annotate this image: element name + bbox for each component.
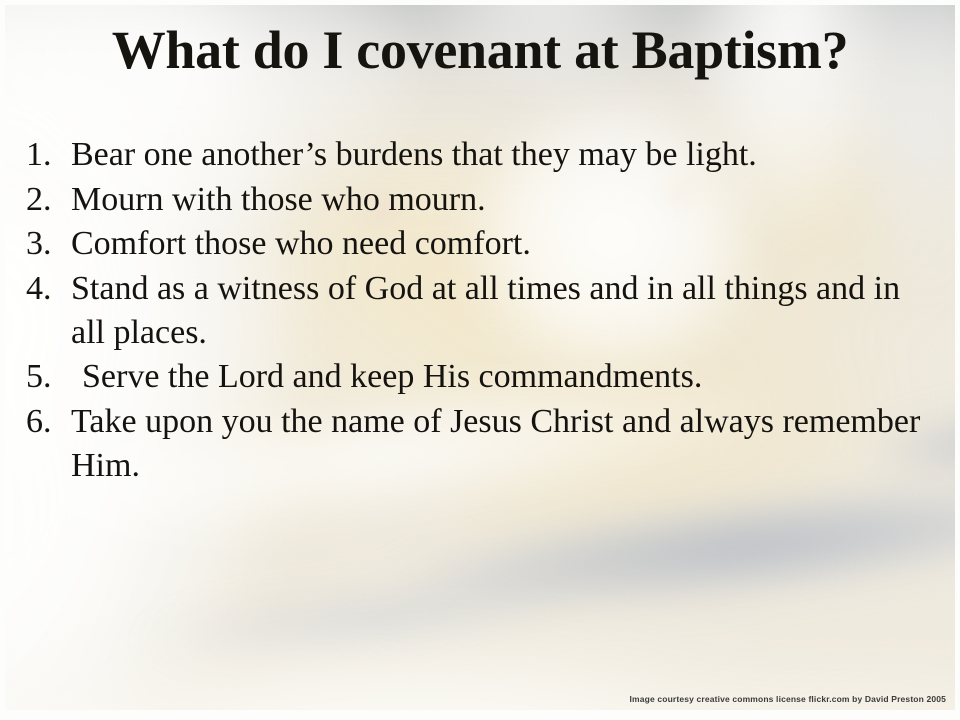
slide-content: What do I covenant at Baptism? 1. Bear o… [0,0,960,720]
list-item: 6. Take upon you the name of Jesus Chris… [26,400,926,487]
list-item-text: Comfort those who need comfort. [71,222,926,266]
list-item-number: 4. [26,267,71,311]
list-item: 5. Serve the Lord and keep His commandme… [26,355,926,399]
list-item-text: Take upon you the name of Jesus Christ a… [71,400,926,487]
list-item-text: Bear one another’s burdens that they may… [71,133,926,177]
list-item-text: Mourn with those who mourn. [71,178,926,222]
image-credit: Image courtesy creative commons license … [630,694,946,704]
list-item-text: Serve the Lord and keep His commandments… [82,355,926,399]
list-item: 2. Mourn with those who mourn. [26,178,926,222]
slide-title: What do I covenant at Baptism? [0,22,960,78]
list-item-number: 3. [26,222,71,266]
list-item-text: Stand as a witness of God at all times a… [71,267,926,354]
list-item: 4. Stand as a witness of God at all time… [26,267,926,354]
list-item-number: 2. [26,178,71,222]
list-item-number: 5. [26,355,82,399]
list-item-number: 1. [26,133,71,177]
list-item-number: 6. [26,400,71,444]
covenant-list: 1. Bear one another’s burdens that they … [26,133,926,489]
list-item: 3. Comfort those who need comfort. [26,222,926,266]
slide: What do I covenant at Baptism? 1. Bear o… [0,0,960,720]
list-item: 1. Bear one another’s burdens that they … [26,133,926,177]
